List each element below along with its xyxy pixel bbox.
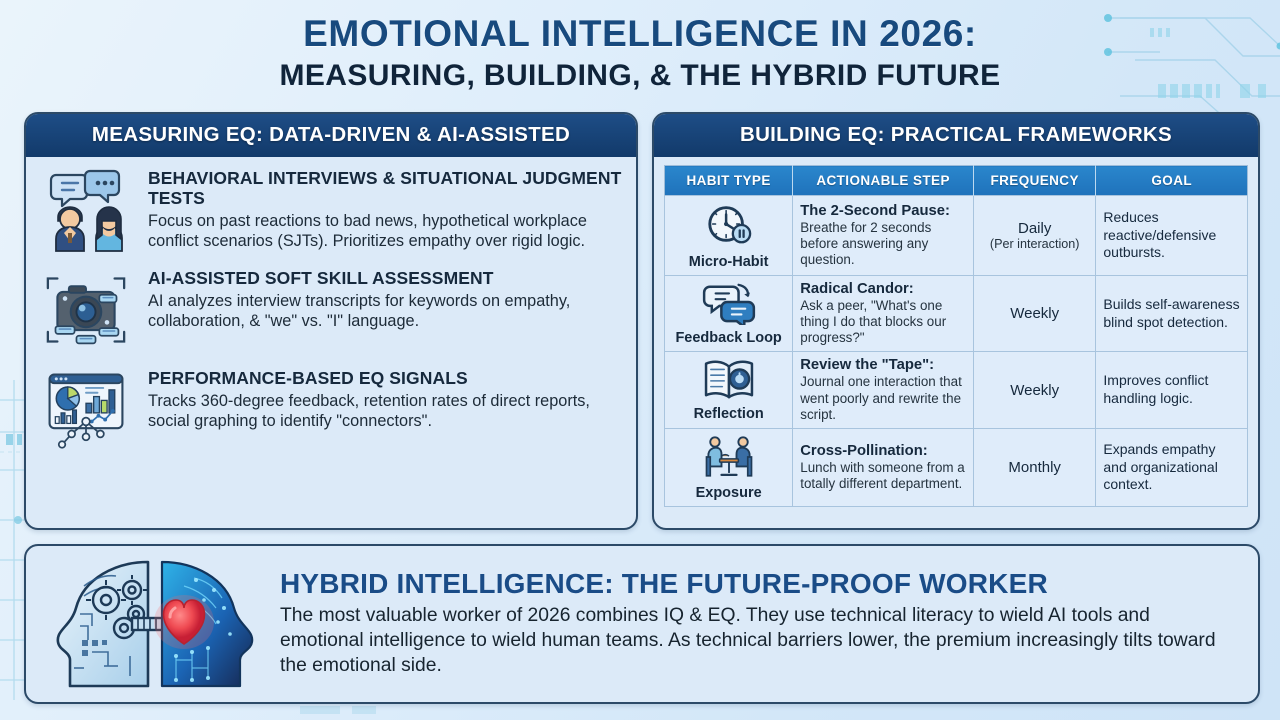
people-speech-bubbles-icon [38,167,134,253]
habit-type-cell: Micro-Habit [665,196,793,276]
frequency-value: Weekly [981,305,1088,322]
goal-text: Reduces reactive/defensive outbursts. [1103,209,1240,262]
column-header-actionable-step: ACTIONABLE STEP [793,166,974,196]
habit-type-label: Reflection [694,407,764,422]
clock-pause-icon [702,201,756,254]
lunch-table-two-people-icon [699,434,759,485]
step-description: Journal one interaction that went poorly… [800,374,966,422]
table-header-row: HABIT TYPE ACTIONABLE STEP FREQUENCY GOA… [665,166,1248,196]
speech-bubbles-loop-icon [702,281,756,330]
list-item: BEHAVIORAL INTERVIEWS & SITUATIONAL JUDG… [38,167,624,253]
measuring-panel-body: BEHAVIORAL INTERVIEWS & SITUATIONAL JUDG… [26,157,636,461]
frequency-cell: Weekly [973,352,1095,428]
table-row: Micro-Habit The 2-Second Pause: Breathe … [665,196,1248,276]
step-description: Breathe for 2 seconds before answering a… [800,220,966,268]
goal-text: Builds self-awareness blind spot detecti… [1103,296,1240,331]
table-row: Exposure Cross-Pollination: Lunch with s… [665,428,1248,506]
table-row: Reflection Review the "Tape": Journal on… [665,352,1248,428]
actionable-step-cell: The 2-Second Pause: Breathe for 2 second… [793,196,974,276]
habit-type-label: Exposure [696,486,762,501]
actionable-step-cell: Review the "Tape": Journal one interacti… [793,352,974,428]
column-header-goal: GOAL [1096,166,1248,196]
dashboard-charts-network-icon [38,367,134,453]
item-description: Focus on past reactions to bad news, hyp… [148,211,624,252]
frequency-value: Weekly [981,382,1088,399]
item-description: Tracks 360-degree feedback, retention ra… [148,391,624,432]
frequency-cell: Daily (Per interaction) [973,196,1095,276]
frequency-note: (Per interaction) [981,237,1088,251]
actionable-step-cell: Radical Candor: Ask a peer, "What's one … [793,276,974,352]
goal-cell: Reduces reactive/defensive outbursts. [1096,196,1248,276]
step-title: Cross-Pollination: [800,443,966,460]
step-description: Lunch with someone from a totally differ… [800,460,966,492]
goal-text: Improves conflict handling logic. [1103,372,1240,407]
hybrid-intelligence-panel: HYBRID INTELLIGENCE: THE FUTURE-PROOF WO… [24,544,1260,704]
dual-head-gears-brain-heart-icon [44,556,262,692]
step-description: Ask a peer, "What's one thing I do that … [800,298,966,346]
habit-type-label: Feedback Loop [675,331,781,346]
frequency-value: Monthly [981,459,1088,476]
frequency-value: Daily [981,220,1088,237]
actionable-step-cell: Cross-Pollination: Lunch with someone fr… [793,428,974,506]
measuring-eq-panel: MEASURING EQ: DATA-DRIVEN & AI-ASSISTED [24,112,638,530]
page-title: EMOTIONAL INTELLIGENCE IN 2026: [0,14,1280,54]
step-title: The 2-Second Pause: [800,203,966,220]
list-item: AI-ASSISTED SOFT SKILL ASSESSMENT AI ana… [38,267,624,353]
page-subtitle: MEASURING, BUILDING, & THE HYBRID FUTURE [0,59,1280,92]
goal-text: Expands empathy and organizational conte… [1103,441,1240,494]
item-title: PERFORMANCE-BASED EQ SIGNALS [148,369,624,389]
frameworks-table: HABIT TYPE ACTIONABLE STEP FREQUENCY GOA… [664,165,1248,507]
habit-type-cell: Reflection [665,352,793,428]
page-header: EMOTIONAL INTELLIGENCE IN 2026: MEASURIN… [0,14,1280,92]
building-panel-header: BUILDING EQ: PRACTICAL FRAMEWORKS [654,114,1258,157]
camera-analysis-icon [38,267,134,353]
goal-cell: Improves conflict handling logic. [1096,352,1248,428]
hybrid-title: HYBRID INTELLIGENCE: THE FUTURE-PROOF WO… [280,569,1238,600]
habit-type-cell: Feedback Loop [665,276,793,352]
item-title: AI-ASSISTED SOFT SKILL ASSESSMENT [148,269,624,289]
building-panel-body: HABIT TYPE ACTIONABLE STEP FREQUENCY GOA… [654,157,1258,517]
goal-cell: Builds self-awareness blind spot detecti… [1096,276,1248,352]
item-title: BEHAVIORAL INTERVIEWS & SITUATIONAL JUDG… [148,169,624,209]
step-title: Review the "Tape": [800,357,966,374]
building-eq-panel: BUILDING EQ: PRACTICAL FRAMEWORKS HABIT … [652,112,1260,530]
column-header-habit-type: HABIT TYPE [665,166,793,196]
step-title: Radical Candor: [800,281,966,298]
measuring-panel-header: MEASURING EQ: DATA-DRIVEN & AI-ASSISTED [26,114,636,157]
item-description: AI analyzes interview transcripts for ke… [148,291,624,332]
column-header-frequency: FREQUENCY [973,166,1095,196]
habit-type-cell: Exposure [665,428,793,506]
hybrid-body-text: The most valuable worker of 2026 combine… [280,603,1238,678]
goal-cell: Expands empathy and organizational conte… [1096,428,1248,506]
frequency-cell: Weekly [973,276,1095,352]
list-item: PERFORMANCE-BASED EQ SIGNALS Tracks 360-… [38,367,624,453]
frequency-cell: Monthly [973,428,1095,506]
open-book-icon [701,357,757,406]
table-row: Feedback Loop Radical Candor: Ask a peer… [665,276,1248,352]
habit-type-label: Micro-Habit [689,255,769,270]
